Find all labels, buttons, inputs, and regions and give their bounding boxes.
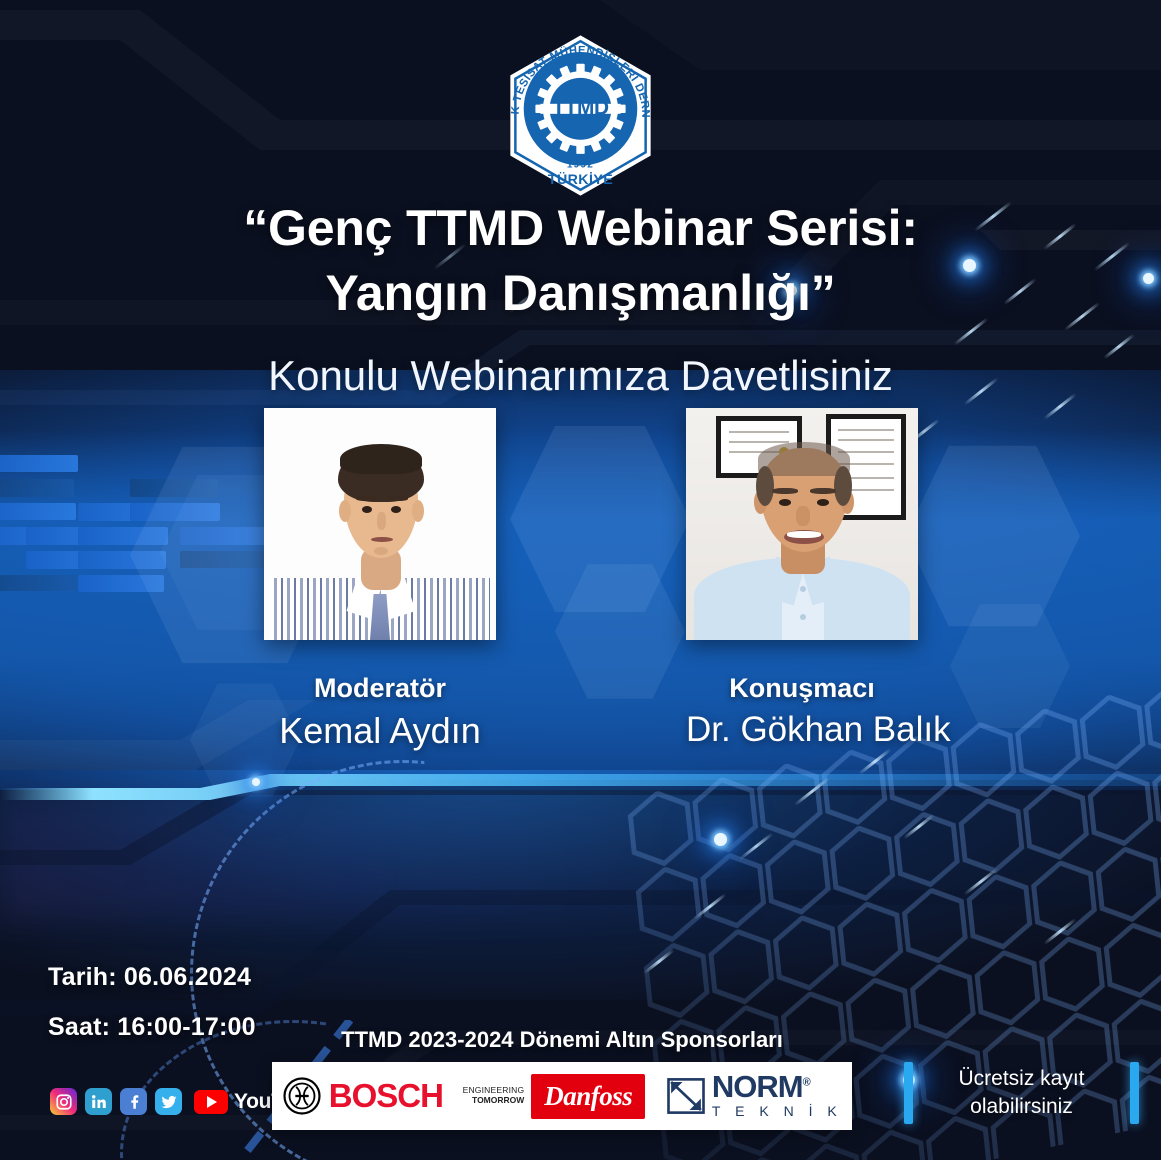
linkedin-icon[interactable]	[85, 1088, 112, 1115]
ttmd-logo: TÜRK TESİSAT MÜHENDİSLERİ DERNEĞİ	[497, 32, 664, 199]
sponsors-title: TTMD 2023-2024 Dönemi Altın Sponsorları	[272, 1027, 852, 1053]
svg-text:TTMD: TTMD	[552, 97, 609, 120]
page-subtitle: Konulu Webinarımıza Davetlisiniz	[0, 352, 1161, 400]
event-time: Saat: 16:00-17:00	[48, 1013, 256, 1042]
norm-teknik-logo	[665, 1075, 707, 1117]
registration-text: Ücretsiz kayıt olabilirsiniz	[958, 1065, 1084, 1122]
sponsors-bar: BOSCH ENGINEERING TOMORROW Danfoss NORM®…	[272, 1062, 852, 1130]
danfoss-tagline: ENGINEERING TOMORROW	[463, 1086, 525, 1106]
webinar-poster: TÜRK TESİSAT MÜHENDİSLERİ DERNEĞİ	[0, 0, 1161, 1160]
svg-text:1992: 1992	[567, 159, 594, 170]
sponsor-danfoss: ENGINEERING TOMORROW Danfoss	[463, 1074, 646, 1119]
moderator-block: Moderatör Kemal Aydın	[264, 408, 496, 752]
sponsor-norm: NORM® T E K N İ K	[665, 1073, 842, 1120]
speaker-name: Dr. Gökhan Balık	[686, 710, 918, 750]
glow-dot-6	[252, 778, 260, 786]
bosch-wordmark: BOSCH	[329, 1077, 443, 1115]
page-title: “Genç TTMD Webinar Serisi: Yangın Danışm…	[0, 196, 1161, 326]
title-line-1: “Genç TTMD Webinar Serisi:	[0, 196, 1161, 261]
registration-callout[interactable]: Ücretsiz kayıt olabilirsiniz	[898, 1052, 1145, 1134]
moderator-role: Moderatör	[264, 673, 496, 704]
speaker-role: Konuşmacı	[686, 673, 918, 704]
instagram-icon[interactable]	[50, 1088, 77, 1115]
danfoss-logo: Danfoss	[531, 1074, 645, 1119]
glow-dot-4	[714, 833, 727, 846]
accent-bar-left	[904, 1062, 913, 1124]
bosch-logo	[282, 1076, 322, 1116]
sponsor-bosch: BOSCH	[282, 1076, 443, 1116]
moderator-name: Kemal Aydın	[264, 710, 496, 752]
norm-wordmark: NORM®	[712, 1073, 842, 1102]
registration-line-2: olabilirsiniz	[958, 1093, 1084, 1121]
danfoss-tagline-line2: TOMORROW	[463, 1096, 525, 1106]
event-date: Tarih: 06.06.2024	[48, 963, 251, 992]
speaker-photo	[686, 408, 918, 640]
svg-text:TÜRKİYE: TÜRKİYE	[548, 171, 613, 188]
accent-bar-right	[1130, 1062, 1139, 1124]
title-line-2: Yangın Danışmanlığı”	[0, 261, 1161, 326]
speaker-block: Konuşmacı Dr. Gökhan Balık	[686, 408, 918, 750]
moderator-photo	[264, 408, 496, 640]
danfoss-wordmark: Danfoss	[544, 1081, 632, 1112]
facebook-icon[interactable]	[120, 1088, 147, 1115]
registration-line-1: Ücretsiz kayıt	[958, 1065, 1084, 1093]
twitter-icon[interactable]	[155, 1088, 182, 1115]
norm-subwordmark: T E K N İ K	[712, 1103, 842, 1119]
